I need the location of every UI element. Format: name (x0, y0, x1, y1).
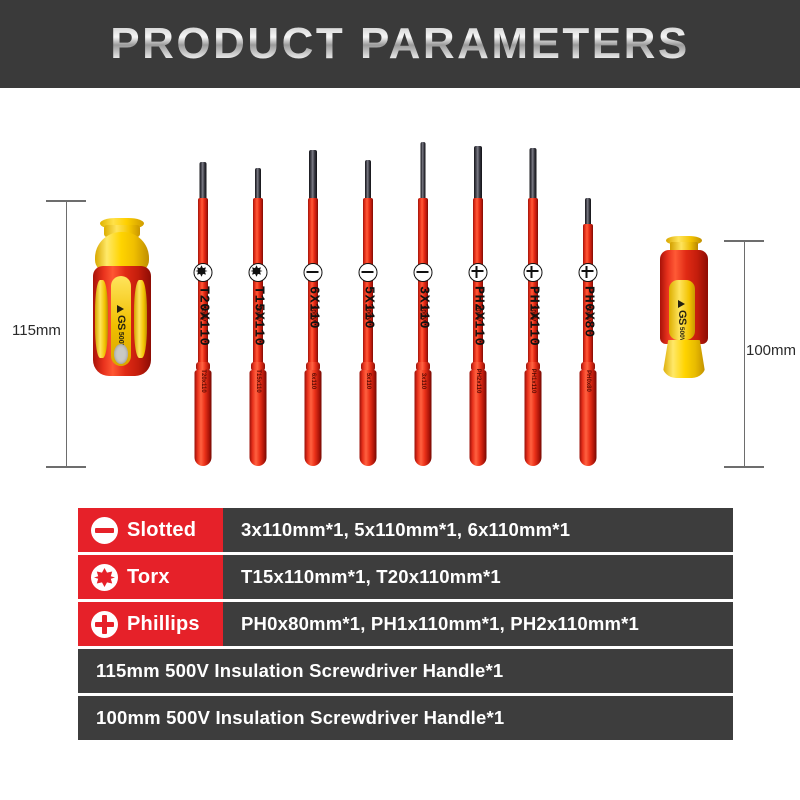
bit-shaft (198, 198, 208, 368)
torx-icon (91, 564, 118, 591)
dimension-label-right: 100mm (746, 342, 796, 359)
bit-3x110: 500V 3x110 3X110 (408, 88, 438, 488)
bit-shaft-mark: PH1x110 (530, 369, 536, 394)
table-row-handle-115mm: 115mm 500V Insulation Screwdriver Handle… (78, 649, 733, 693)
product-illustration: 115mm GS 500V 500V T20x110 T20X110 (0, 88, 800, 488)
handle-115mm: GS 500V (88, 218, 156, 378)
table-value-cell: T15x110mm*1, T20x110mm*1 (223, 555, 733, 599)
bit-ph1x110: 500V PH1x110 PH1X110 (518, 88, 548, 488)
handle-foot-yellow (662, 340, 706, 378)
bit-shaft-mark: 3x110 (420, 373, 426, 389)
bit-shaft-mark: 5x110 (365, 373, 371, 389)
gs-mark-label: GS (115, 315, 127, 330)
dimension-left-115mm: 115mm (44, 200, 88, 468)
bit-voltage-mark: 500V (255, 306, 262, 322)
bit-tip (200, 162, 207, 202)
handle-hang-hole (114, 344, 128, 364)
table-label-text: Phillips (127, 613, 200, 636)
warning-triangle-icon (679, 300, 686, 308)
table-row-phillips: Phillips PH0x80mm*1, PH1x110mm*1, PH2x11… (78, 602, 733, 646)
table-value-cell: PH0x80mm*1, PH1x110mm*1, PH2x110mm*1 (223, 602, 733, 646)
bit-tip (421, 142, 426, 202)
bit-shaft-mark: PH0x80 (585, 370, 591, 392)
bit-shaft-mark: PH2x110 (475, 369, 481, 394)
bit-tip (309, 150, 317, 202)
handle-logo-115mm: GS 500V (95, 305, 147, 327)
bit-t20x110: 500V T20x110 T20X110 (188, 88, 218, 488)
voltage-label: 500V (679, 327, 686, 342)
bit-6x110: 500V 6x110 6X110 (298, 88, 328, 488)
bit-voltage-mark: 500V (365, 306, 372, 322)
table-label-text: Slotted (127, 519, 196, 542)
bit-shaft-mark: 6x110 (310, 373, 316, 389)
bit-5x110: 500V 5x110 5X110 (353, 88, 383, 488)
bit-shaft (363, 198, 373, 368)
table-label-cell: Phillips (78, 602, 223, 646)
dimension-tick-bottom (724, 466, 764, 468)
bit-shaft (473, 198, 483, 368)
table-label-text: Torx (127, 566, 170, 589)
table-row-handle-100mm: 100mm 500V Insulation Screwdriver Handle… (78, 696, 733, 740)
table-row-torx: Torx T15x110mm*1, T20x110mm*1 (78, 555, 733, 599)
bit-voltage-mark: 500V (475, 306, 482, 322)
bit-tip (365, 160, 371, 202)
bit-ph0x80: 500V PH0x80 PH0X80 (573, 88, 603, 488)
bit-shaft (418, 198, 428, 368)
bit-voltage-mark: 500V (420, 306, 427, 322)
parameter-table: Slotted 3x110mm*1, 5x110mm*1, 6x110mm*1 … (78, 508, 733, 743)
bit-voltage-mark: 500V (310, 306, 317, 322)
bit-voltage-mark: 500V (200, 306, 207, 322)
bit-shaft-mark: T20x110 (200, 369, 206, 392)
bit-voltage-mark: 500V (585, 306, 592, 322)
bit-shaft-mark: T15x110 (255, 369, 261, 392)
gs-mark-label: GS (676, 310, 688, 325)
warning-triangle-icon (118, 305, 125, 313)
bit-t15x110: 500V T15x110 T15X110 (243, 88, 273, 488)
table-label-cell: Torx (78, 555, 223, 599)
bit-shaft (308, 198, 318, 368)
bit-shaft (583, 224, 593, 368)
dimension-tick-bottom (46, 466, 86, 468)
page-header: PRODUCT PARAMETERS (0, 0, 800, 88)
bit-shaft (528, 198, 538, 368)
handle-logo-100mm: GS 500V (662, 300, 702, 324)
page-title: PRODUCT PARAMETERS (110, 19, 690, 69)
dimension-label-left: 115mm (12, 322, 61, 339)
bit-tip (474, 146, 482, 202)
handle-100mm: GS 500V (656, 236, 712, 378)
slotted-icon (91, 517, 118, 544)
dimension-line (744, 240, 745, 468)
dimension-right-100mm: 100mm (722, 240, 766, 468)
phillips-icon (91, 611, 118, 638)
bit-tip (255, 168, 261, 202)
dimension-line (66, 200, 67, 468)
table-value-cell: 3x110mm*1, 5x110mm*1, 6x110mm*1 (223, 508, 733, 552)
table-label-cell: Slotted (78, 508, 223, 552)
bit-tip (530, 148, 537, 202)
bit-shaft (253, 198, 263, 368)
bit-ph2x110: 500V PH2x110 PH2X110 (463, 88, 493, 488)
bit-voltage-mark: 500V (530, 306, 537, 322)
table-row-slotted: Slotted 3x110mm*1, 5x110mm*1, 6x110mm*1 (78, 508, 733, 552)
